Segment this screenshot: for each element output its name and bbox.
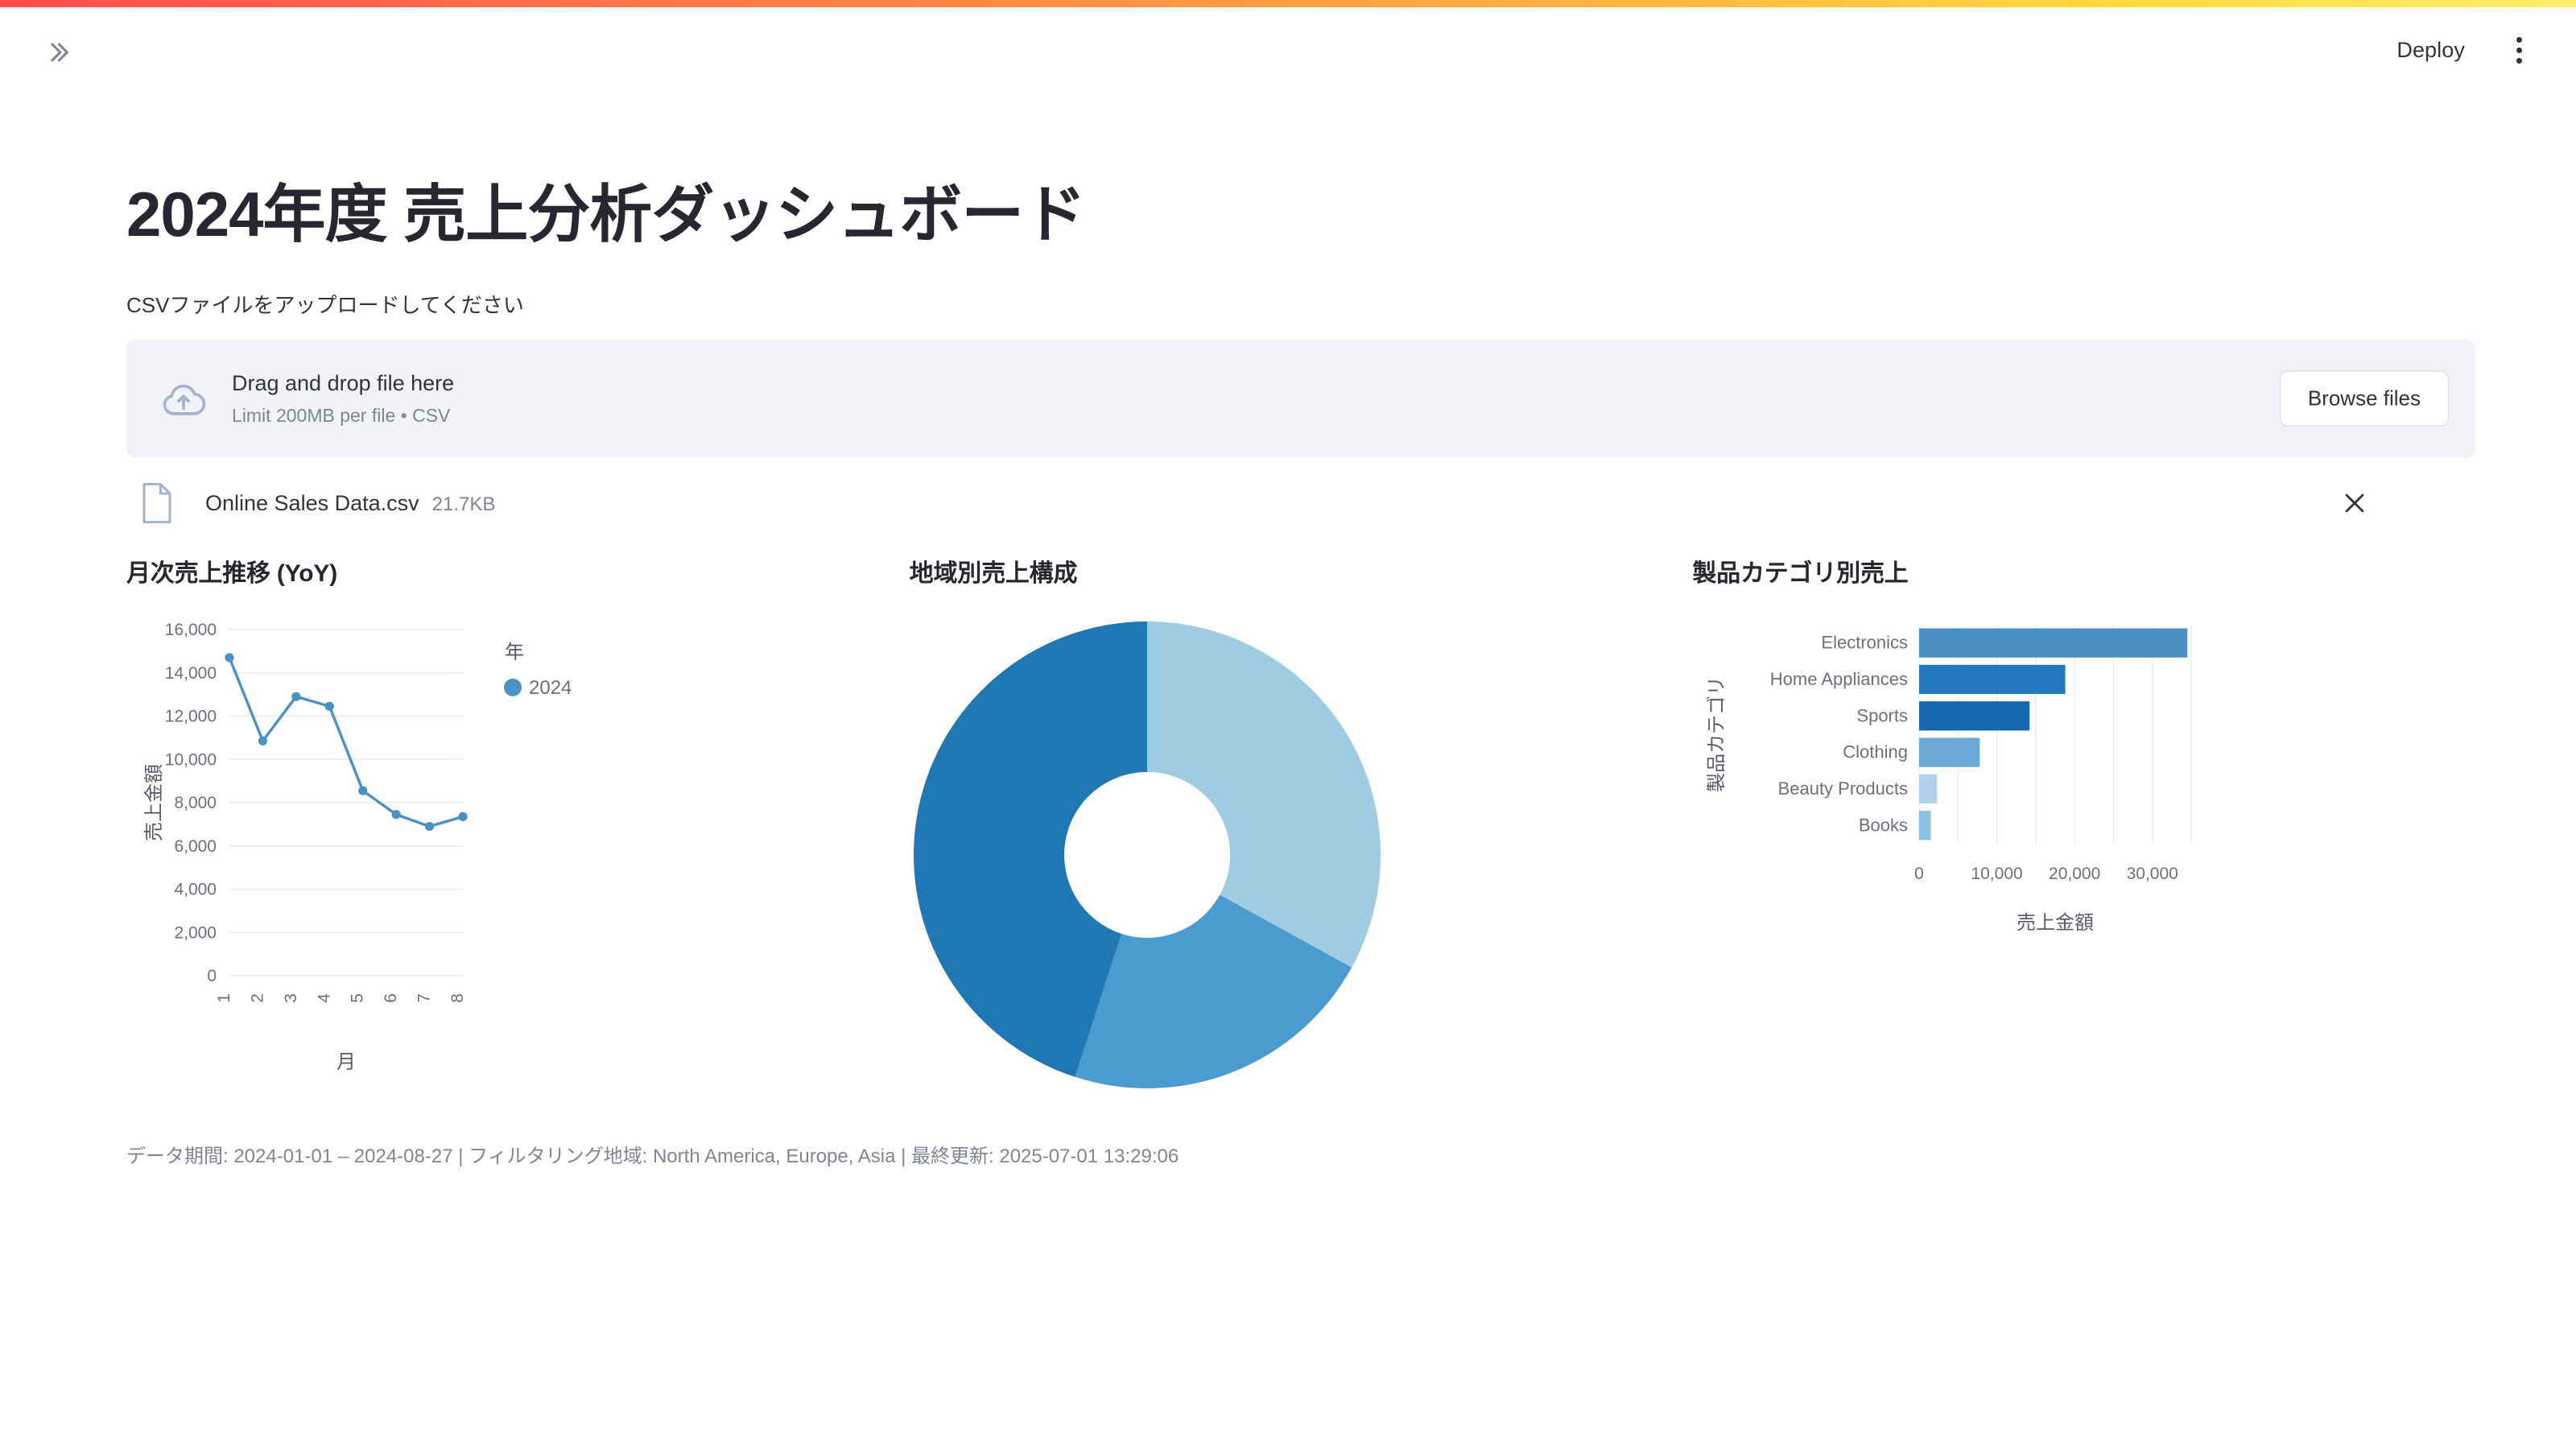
browse-files-button[interactable]: Browse files [2280,371,2449,427]
uploader-secondary-text: Limit 200MB per file • CSV [232,403,454,428]
main-container: 2024年度 売上分析ダッシュボード CSVファイルをアップロードしてください … [0,92,2576,1449]
svg-text:8,000: 8,000 [174,794,217,812]
svg-text:4: 4 [315,993,333,1003]
file-document-icon [126,482,188,524]
close-icon[interactable] [2334,482,2376,524]
bar[interactable] [1919,738,1979,767]
svg-text:製品カテゴリ: 製品カテゴリ [1706,676,1728,792]
page-title: 2024年度 売上分析ダッシュボード [126,180,2475,248]
file-uploader-dropzone[interactable]: Drag and drop file here Limit 200MB per … [126,339,2475,458]
svg-text:6,000: 6,000 [174,837,217,856]
bar[interactable] [1919,701,2029,730]
uploaded-file-meta: Online Sales Data.csv 21.7KB [205,491,495,516]
chart-title-bar: 製品カテゴリ別売上 [1692,558,2475,589]
app-header: Deploy [0,7,2576,92]
svg-text:月: 月 [336,1051,356,1073]
dashboard-footer: データ期間: 2024-01-01 – 2024-08-27 | フィルタリング… [126,1142,2475,1171]
svg-text:0: 0 [207,967,217,985]
line-chart-body: 02,0004,0006,0008,00010,00012,00014,0001… [126,613,910,1092]
svg-text:4,000: 4,000 [174,881,217,899]
bar[interactable] [1919,811,1930,840]
bar-chart-body: ElectronicsHome AppliancesSportsClothing… [1692,613,2475,972]
svg-text:20,000: 20,000 [2049,865,2100,883]
svg-text:売上金額: 売上金額 [2017,912,2094,934]
svg-text:16,000: 16,000 [165,621,217,639]
svg-text:12,000: 12,000 [165,708,217,726]
svg-text:Home Appliances: Home Appliances [1770,669,1908,689]
pie-slice[interactable] [1147,621,1381,968]
svg-text:6: 6 [382,993,400,1003]
chevron-double-right-icon[interactable] [35,30,80,75]
pie-chart-body [910,613,1693,1092]
bar[interactable] [1919,629,2187,658]
svg-text:Beauty Products: Beauty Products [1778,778,1908,799]
kebab-menu-icon[interactable] [2497,28,2541,72]
charts-row: 月次売上推移 (YoY) 02,0004,0006,0008,00010,000… [126,558,2475,1092]
app-content: 2024年度 売上分析ダッシュボード CSVファイルをアップロードしてください … [126,92,2475,1171]
svg-text:0: 0 [1915,865,1925,883]
chart-title-line: 月次売上推移 (YoY) [126,558,910,589]
svg-text:10,000: 10,000 [1971,865,2023,883]
svg-text:年: 年 [505,642,524,663]
bar-chart-canvas[interactable]: ElectronicsHome AppliancesSportsClothing… [1692,613,2288,968]
uploader-primary-text: Drag and drop file here [232,369,454,398]
chart-region-mix: 地域別売上構成 [910,558,1693,1092]
svg-text:14,000: 14,000 [165,664,217,683]
svg-text:Clothing: Clothing [1843,742,1909,762]
bar[interactable] [1919,665,2066,694]
cloud-upload-icon [153,380,214,417]
uploader-texts: Drag and drop file here Limit 200MB per … [232,369,454,428]
svg-text:30,000: 30,000 [2127,865,2178,883]
chart-title-pie: 地域別売上構成 [910,558,1693,589]
donut-chart-canvas[interactable] [910,613,1618,1088]
svg-text:7: 7 [415,993,434,1003]
streamlit-running-bar [0,0,2576,7]
svg-text:Sports: Sports [1857,706,1909,726]
svg-text:5: 5 [349,993,367,1003]
svg-text:8: 8 [448,993,467,1003]
svg-text:3: 3 [282,993,300,1003]
svg-text:2: 2 [248,993,266,1003]
uploaded-file-name: Online Sales Data.csv [205,491,419,516]
svg-text:2,000: 2,000 [174,923,217,942]
header-actions: Deploy [2385,28,2541,72]
svg-text:Electronics: Electronics [1822,633,1909,653]
svg-text:売上金額: 売上金額 [143,764,165,841]
uploaded-file-row: Online Sales Data.csv 21.7KB [126,477,2475,529]
deploy-button[interactable]: Deploy [2385,31,2476,69]
chart-monthly-sales: 月次売上推移 (YoY) 02,0004,0006,0008,00010,000… [126,558,910,1092]
file-uploader-label: CSVファイルをアップロードしてください [126,290,2475,321]
bar[interactable] [1919,774,1937,803]
chart-category-sales: 製品カテゴリ別売上 ElectronicsHome AppliancesSpor… [1692,558,2475,1092]
line-chart-canvas[interactable]: 02,0004,0006,0008,00010,00012,00014,0001… [126,613,609,1088]
svg-text:Books: Books [1859,815,1908,836]
svg-text:1: 1 [215,993,233,1003]
uploaded-file-size: 21.7KB [432,493,496,516]
svg-text:2024: 2024 [529,677,572,699]
svg-text:10,000: 10,000 [165,750,217,769]
